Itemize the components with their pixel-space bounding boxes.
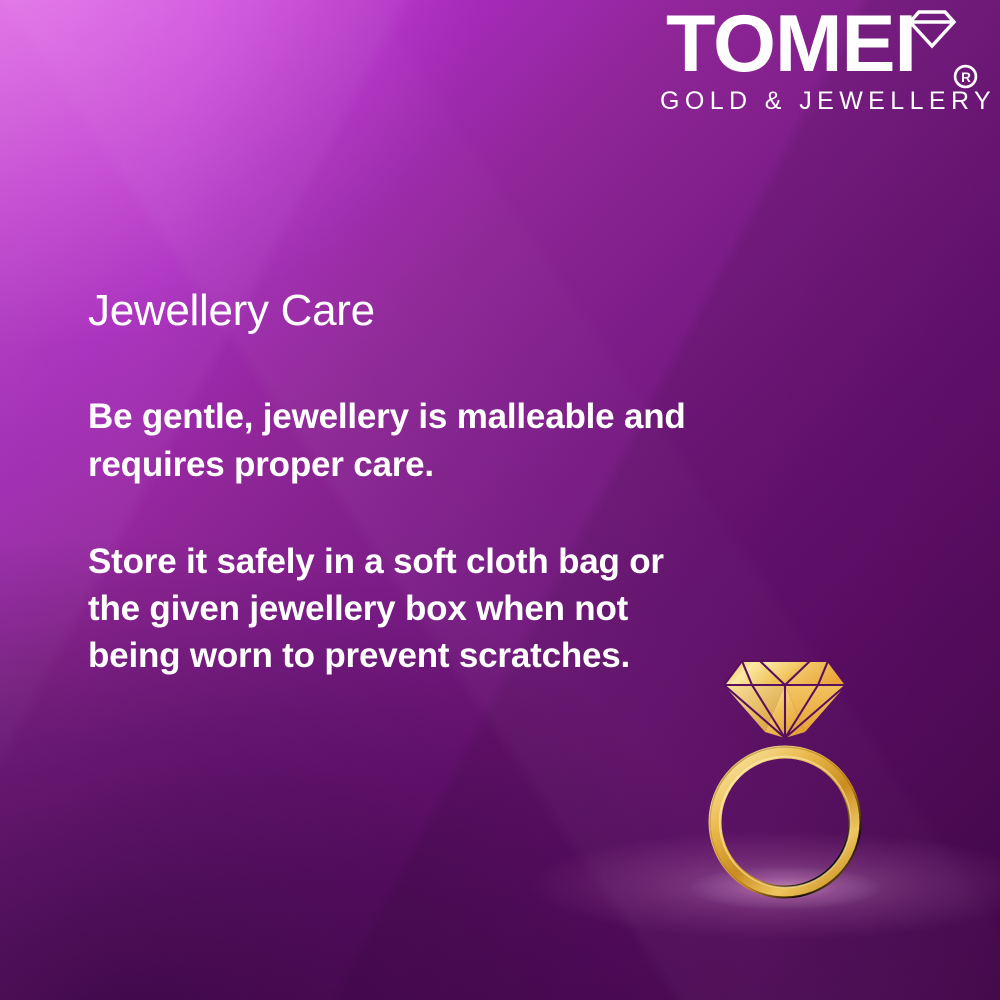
registered-trademark-icon: R (953, 64, 978, 89)
diamond-ring-illustration (690, 640, 880, 910)
page-title: Jewellery Care (88, 286, 688, 335)
diamond-gem (724, 661, 846, 738)
brand-wordmark-text: TOMEI (666, 0, 916, 89)
brand-tagline: GOLD & JEWELLERY (652, 87, 982, 116)
body-paragraph-1: Be gentle, jewellery is malleable and re… (88, 393, 688, 488)
svg-text:R: R (961, 70, 971, 85)
brand-wordmark: TOMEI R (652, 6, 982, 82)
jewellery-care-poster: TOMEI R GOLD & JEWELLERY Jewellery Care … (0, 0, 1000, 1000)
body-paragraph-2: Store it safely in a soft cloth bag or t… (88, 538, 688, 680)
copy-block: Jewellery Care Be gentle, jewellery is m… (88, 286, 688, 680)
brand-logo: TOMEI R GOLD & JEWELLERY (652, 6, 982, 116)
